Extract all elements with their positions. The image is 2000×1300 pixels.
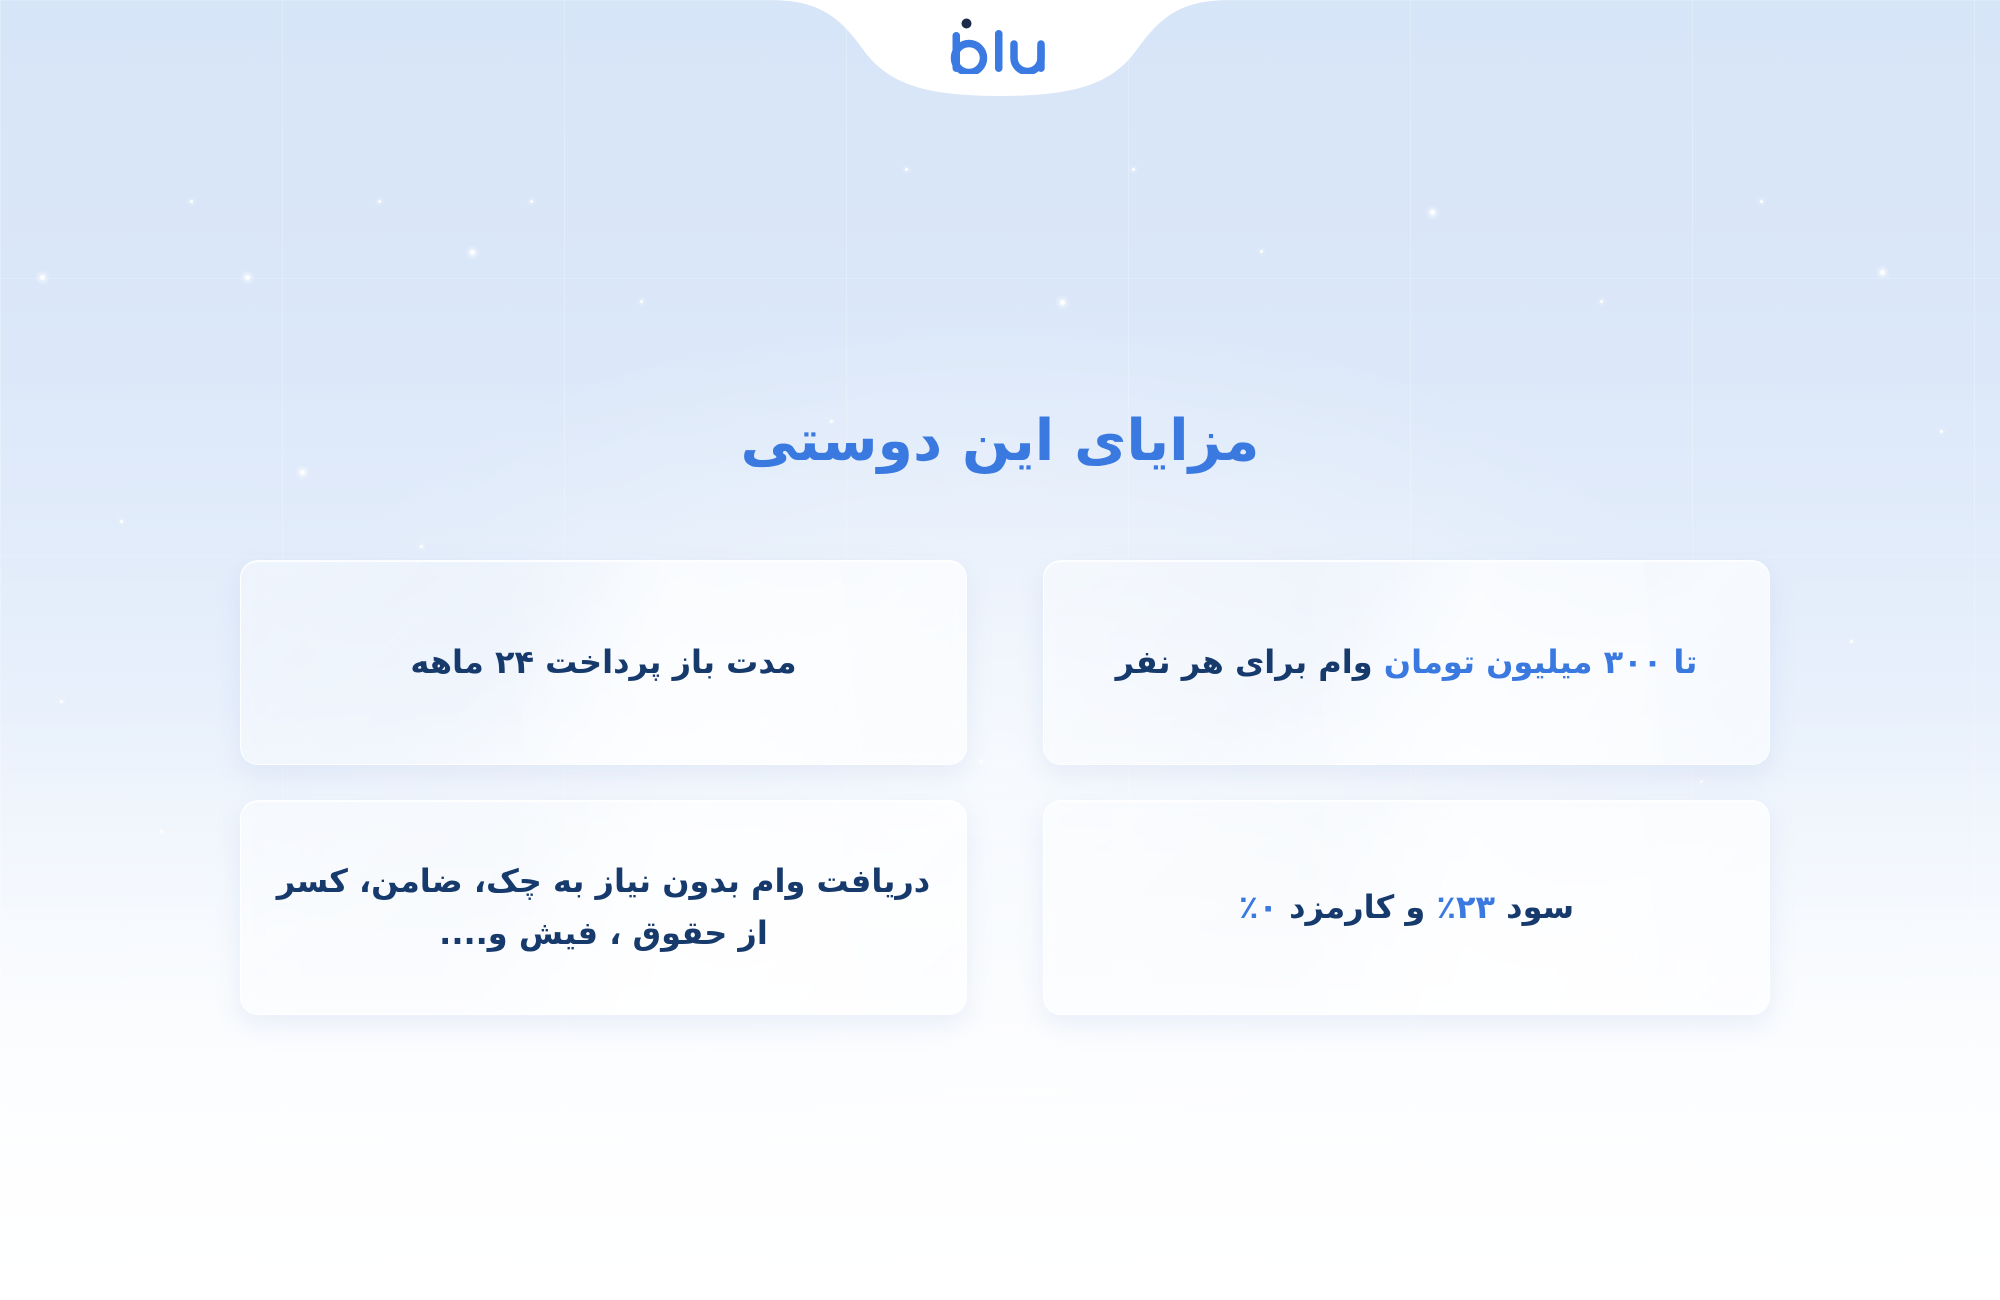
sparkle-icon: [245, 275, 250, 280]
body-text: وام برای هر نفر: [1116, 643, 1373, 681]
highlight-text: تا ۳۰۰ میلیون تومان: [1373, 643, 1698, 681]
blu-logo-mark: [940, 16, 1060, 74]
no-collateral-text: دریافت وام بدون نیاز به چک، ضامن، کسر از…: [275, 856, 932, 960]
sparkle-icon: [1760, 200, 1763, 203]
highlight-text: ۰٪: [1239, 888, 1278, 926]
sparkle-icon: [60, 700, 63, 703]
sparkle-icon: [1260, 250, 1263, 253]
interest-fee-card[interactable]: سود ۲۳٪ و کارمزد ۰٪: [1043, 800, 1770, 1015]
body-text: و کارمزد: [1278, 888, 1437, 926]
highlight-text: ۲۳٪: [1436, 888, 1495, 926]
sparkle-icon: [530, 200, 533, 203]
sparkle-icon: [190, 200, 193, 203]
sparkle-icon: [40, 275, 45, 280]
sparkle-icon: [1850, 640, 1853, 643]
sparkle-icon: [1430, 210, 1435, 215]
sparkle-icon: [1132, 168, 1135, 171]
sparkle-icon: [160, 830, 163, 833]
sparkle-icon: [470, 250, 475, 255]
logo-dot-icon: [962, 19, 972, 29]
sparkle-icon: [1060, 300, 1065, 305]
sparkle-icon: [120, 520, 123, 523]
repayment-term-card[interactable]: مدت باز پرداخت ۲۴ ماهه: [240, 560, 967, 765]
loan-amount-card[interactable]: تا ۳۰۰ میلیون تومان وام برای هر نفر: [1043, 560, 1770, 765]
body-text: سود: [1495, 888, 1574, 926]
blu-logo[interactable]: [940, 16, 1060, 74]
sparkle-icon: [378, 200, 381, 203]
header-notch: [0, 0, 2000, 110]
benefits-grid: تا ۳۰۰ میلیون تومان وام برای هر نفر مدت …: [240, 560, 1770, 1015]
sparkle-icon: [640, 300, 643, 303]
sparkle-icon: [905, 168, 908, 171]
sparkle-icon: [1600, 300, 1603, 303]
interest-fee-text: سود ۲۳٪ و کارمزد ۰٪: [1239, 882, 1574, 934]
loan-amount-text: تا ۳۰۰ میلیون تومان وام برای هر نفر: [1116, 637, 1698, 689]
page-root: مزایای این دوستی تا ۳۰۰ میلیون تومان وام…: [0, 0, 2000, 1300]
sparkle-icon: [420, 545, 423, 548]
no-collateral-card[interactable]: دریافت وام بدون نیاز به چک، ضامن، کسر از…: [240, 800, 967, 1015]
body-text: دریافت وام بدون نیاز به چک، ضامن، کسر از…: [277, 862, 930, 952]
page-title: مزایای این دوستی: [0, 406, 2000, 477]
body-text: مدت باز پرداخت ۲۴ ماهه: [410, 643, 796, 681]
repayment-term-text: مدت باز پرداخت ۲۴ ماهه: [410, 637, 796, 689]
sparkle-icon: [1880, 270, 1885, 275]
